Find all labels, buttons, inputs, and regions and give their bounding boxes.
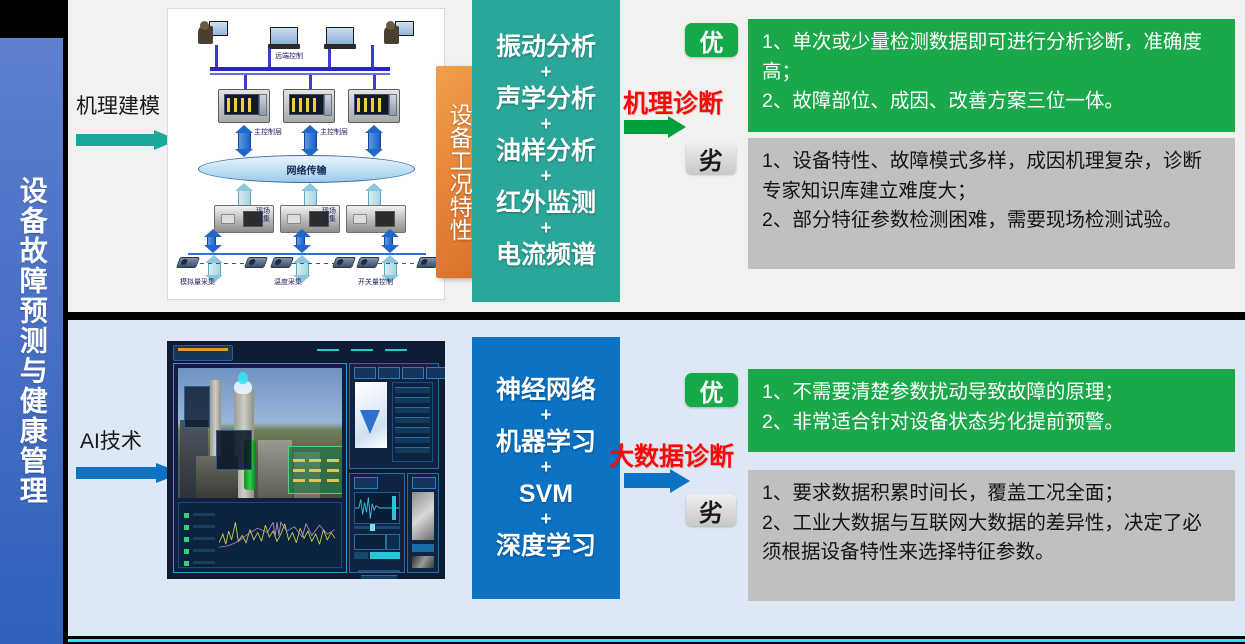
mechanism-pros-line-0: 1、单次或少量检测数据即可进行分析诊断，准确度 [762, 28, 1221, 58]
label-switch-control: 开关量控制 [358, 277, 393, 287]
ai-cons-line-2: 须根据设备特性来选择特征参数。 [762, 538, 1221, 568]
link-controller-network-2 [304, 131, 317, 151]
mechanism-cons-line-1: 专家知识库建立难度大； [762, 177, 1221, 207]
trend-sparkline [219, 515, 335, 553]
plant-3d-view [178, 368, 342, 498]
stage-ai: AI技术 [80, 425, 142, 455]
controller-unit-2 [283, 89, 335, 123]
bottom-accent-rule [68, 639, 1245, 642]
controller-unit-1 [218, 89, 270, 123]
vibration-analysis-panel [349, 473, 405, 573]
industrial-control-network-diagram: 远端控制 [167, 8, 445, 300]
ai-technique-stack: 神经网络 + 机器学习 + SVM + 深度学习 [472, 337, 620, 599]
ai-stack-item-2: SVM [519, 481, 573, 507]
camera-thumbnail-visible [412, 492, 434, 540]
stage-mechanism-label: 机理建模 [76, 90, 160, 120]
ai-pros-line-1: 2、非常适合针对设备状态劣化提前预警。 [762, 408, 1221, 438]
stack-item-3: 红外监测 [496, 190, 596, 216]
link-collector-fieldbus-2 [296, 235, 305, 247]
plus-0: + [540, 63, 551, 83]
stack-item-2: 油样分析 [496, 138, 596, 164]
label-main-control-2: 主控制层 [320, 127, 348, 137]
mechanism-cons-card: 1、设备特性、故障模式多样，成因机理复杂，诊断 专家知识库建立难度大； 2、部分… [748, 138, 1235, 269]
remote-control-bus [210, 67, 390, 71]
stack-item-1: 声学分析 [496, 86, 596, 112]
sensor-node-5 [356, 257, 380, 268]
section-ai-panel: AI技术 [68, 320, 1245, 636]
ai-cons-badge: 劣 [686, 494, 736, 526]
ai-stack-item-1: 机器学习 [496, 429, 596, 455]
network-transmission-bus: 网络传输 [198, 155, 415, 183]
equipment-detail-panel [349, 363, 439, 469]
ai-plus-2: + [540, 510, 551, 530]
stack-item-0: 振动分析 [496, 34, 596, 60]
ai-cons-card: 1、要求数据积累时间长，覆盖工况全面； 2、工业大数据与互联网大数据的差异性，决… [748, 470, 1235, 601]
plus-3: + [540, 219, 551, 239]
plus-1: + [540, 115, 551, 135]
ai-pros-badge: 优 [685, 373, 738, 407]
dashboard-main-view [173, 363, 347, 573]
sensor-node-3 [270, 257, 294, 268]
label-temperature-collect: 温度采集 [274, 277, 302, 287]
section-mechanism-panel: 机理建模 远端控制 [68, 0, 1245, 312]
mechanism-cons-line-2: 2、部分特征参数检测困难，需要现场检测试验。 [762, 206, 1221, 236]
arrow-mechanism [76, 130, 178, 150]
ai-pros-card: 1、不需要清楚参数扰动导致故障的原理； 2、非常适合针对设备状态劣化提前预警。 [748, 369, 1235, 452]
scada-monitoring-dashboard [167, 341, 445, 579]
link-collector-fieldbus-3 [384, 235, 393, 247]
label-network-transmission: 网络传输 [287, 162, 327, 177]
bigdata-diagnosis-label: 大数据诊断 [609, 437, 734, 473]
controller-unit-3 [348, 89, 400, 123]
slide-side-title-bar: 设备故障预测与健康管理 [0, 38, 63, 644]
ai-cons-line-1: 2、工业大数据与互联网大数据的差异性，决定了必 [762, 509, 1221, 539]
ai-stack-item-3: 深度学习 [496, 533, 596, 559]
sensor-node-2 [244, 257, 268, 268]
arrow-mechanism-diagnosis [624, 116, 686, 138]
ai-plus-1: + [540, 458, 551, 478]
label-field-collect-1: 现场采集 [256, 207, 276, 223]
trend-chart-panel [178, 502, 342, 568]
sensor-node-4 [332, 257, 356, 268]
label-main-control-1: 主控制层 [254, 127, 282, 137]
sensor-node-1 [176, 257, 200, 268]
ai-pros-line-0: 1、不需要清楚参数扰动导致故障的原理； [762, 378, 1221, 408]
mechanism-diagnosis-label: 机理诊断 [623, 84, 723, 120]
stage-ai-label: AI技术 [80, 425, 142, 455]
mechanism-pros-card: 1、单次或少量检测数据即可进行分析诊断，准确度 高； 2、故障部位、成因、改善方… [748, 19, 1235, 132]
stage-mechanism: 机理建模 [76, 90, 160, 120]
link-collector-fieldbus-1 [207, 235, 216, 247]
metrics-overlay-grid [288, 446, 342, 494]
label-field-collect-2: 现场采集 [322, 207, 342, 223]
arrow-bigdata-diagnosis [624, 469, 690, 493]
ai-plus-0: + [540, 406, 551, 426]
laptop-icon-1 [270, 27, 298, 45]
operator-workstation-left-icon [198, 21, 228, 45]
link-controller-network-3 [368, 131, 381, 151]
mechanism-analysis-stack: 振动分析 + 声学分析 + 油样分析 + 红外监测 + 电流频谱 [472, 0, 620, 302]
ai-stack-item-0: 神经网络 [496, 377, 596, 403]
camera-thumbnail-infrared [412, 556, 434, 568]
mechanism-cons-badge: 劣 [686, 142, 736, 174]
equipment-condition-feature-label: 设备工况特性 [445, 103, 472, 241]
laptop-icon-2 [326, 27, 354, 45]
link-controller-network-1 [238, 131, 251, 151]
label-analog-collect: 模拟量采集 [180, 277, 215, 287]
slide-side-title: 设备故障预测与健康管理 [13, 176, 49, 506]
operator-workstation-right-icon [384, 21, 414, 45]
mechanism-pros-badge: 优 [685, 23, 738, 57]
mechanism-pros-line-1: 高； [762, 58, 1221, 88]
mechanism-cons-line-0: 1、设备特性、故障模式多样，成因机理复杂，诊断 [762, 147, 1221, 177]
stack-item-4: 电流频谱 [496, 242, 596, 268]
camera-feeds-panel [407, 473, 439, 573]
dashboard-title-plate [173, 345, 233, 361]
label-remote-control: 远端控制 [275, 51, 303, 61]
ai-cons-line-0: 1、要求数据积累时间长，覆盖工况全面； [762, 479, 1221, 509]
mechanism-pros-line-2: 2、故障部位、成因、改善方案三位一体。 [762, 87, 1221, 117]
plus-2: + [540, 167, 551, 187]
slide-root: 设备故障预测与健康管理 机理建模 远端控制 [0, 0, 1245, 644]
